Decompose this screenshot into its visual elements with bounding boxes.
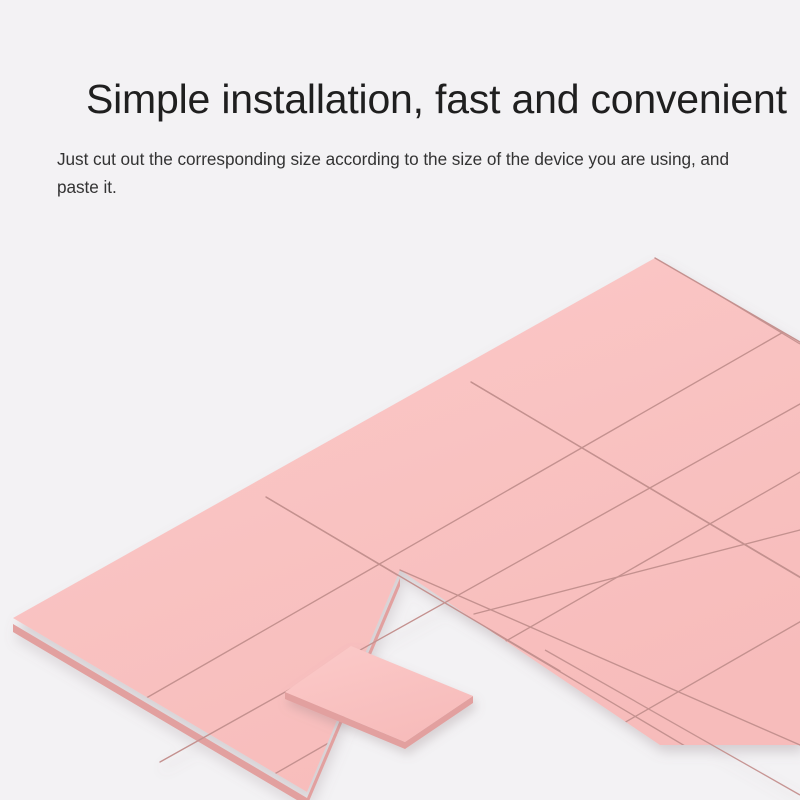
- page-title: Simple installation, fast and convenient: [86, 76, 786, 123]
- page-subtitle: Just cut out the corresponding size acco…: [57, 146, 747, 202]
- page-root: Simple installation, fast and convenient…: [0, 0, 800, 800]
